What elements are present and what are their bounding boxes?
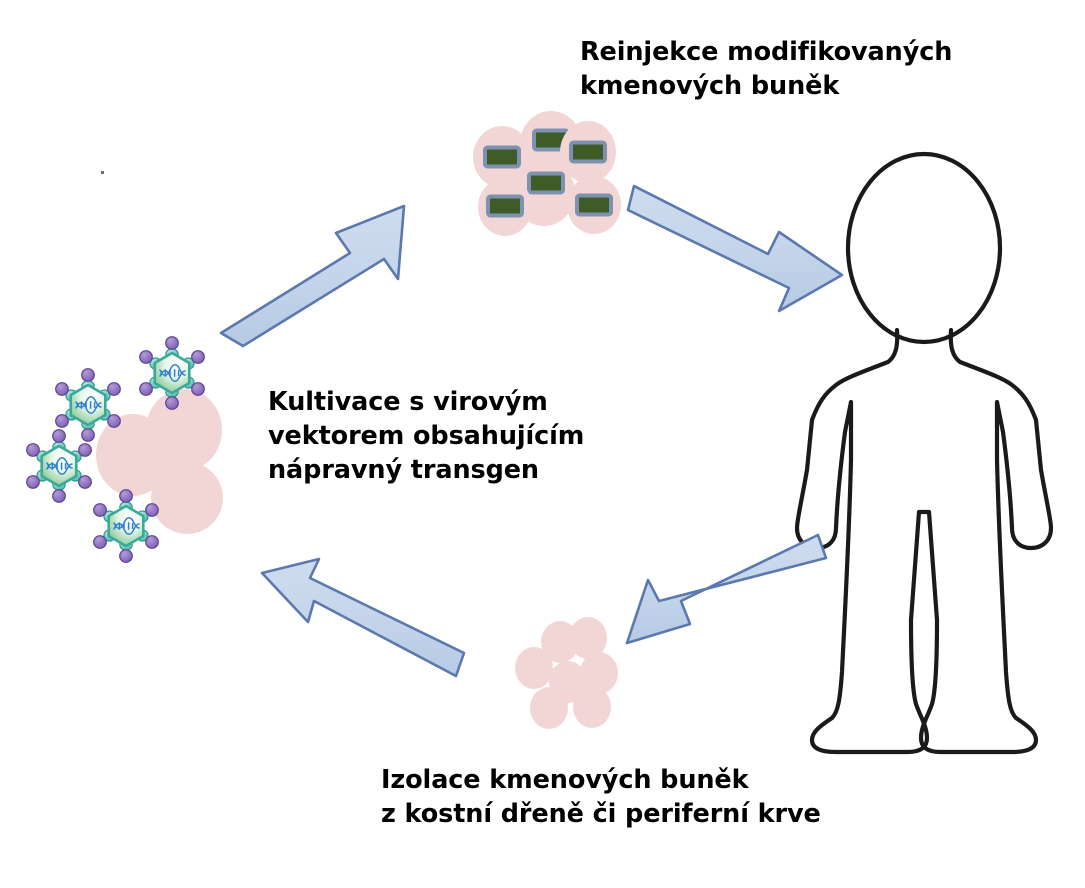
stem-cell [530, 687, 568, 729]
culture-cell [151, 462, 223, 534]
arrow-patient-to-isolated [627, 535, 826, 643]
patient-body [797, 330, 1051, 752]
stem-cell [515, 647, 553, 689]
modified-stem-cells-cluster [473, 111, 621, 236]
arrow-modified-to-patient [628, 186, 842, 311]
modified-stem-cell [478, 178, 532, 236]
stem-cell [573, 686, 611, 728]
caption-reinjection: Reinjekce modifikovaných kmenových buněk [580, 36, 952, 104]
image-speck-artifact [101, 171, 104, 174]
diagram-canvas: Reinjekce modifikovaných kmenových buněk… [0, 0, 1085, 888]
virus-particle [94, 490, 159, 563]
caption-culture: Kultivace s virovým vektorem obsahujícím… [268, 386, 584, 488]
patient-silhouette [797, 154, 1051, 752]
arrow-isolated-to-culture [262, 559, 464, 676]
virus-particle [27, 430, 92, 503]
patient-head [848, 154, 1000, 342]
modified-stem-cell [567, 176, 621, 234]
caption-isolation: Izolace kmenových buněk z kostní dřeně č… [381, 764, 821, 832]
arrow-culture-to-modified [221, 206, 404, 346]
culture-cell [146, 389, 222, 471]
isolated-stem-cells-cluster [515, 617, 618, 729]
